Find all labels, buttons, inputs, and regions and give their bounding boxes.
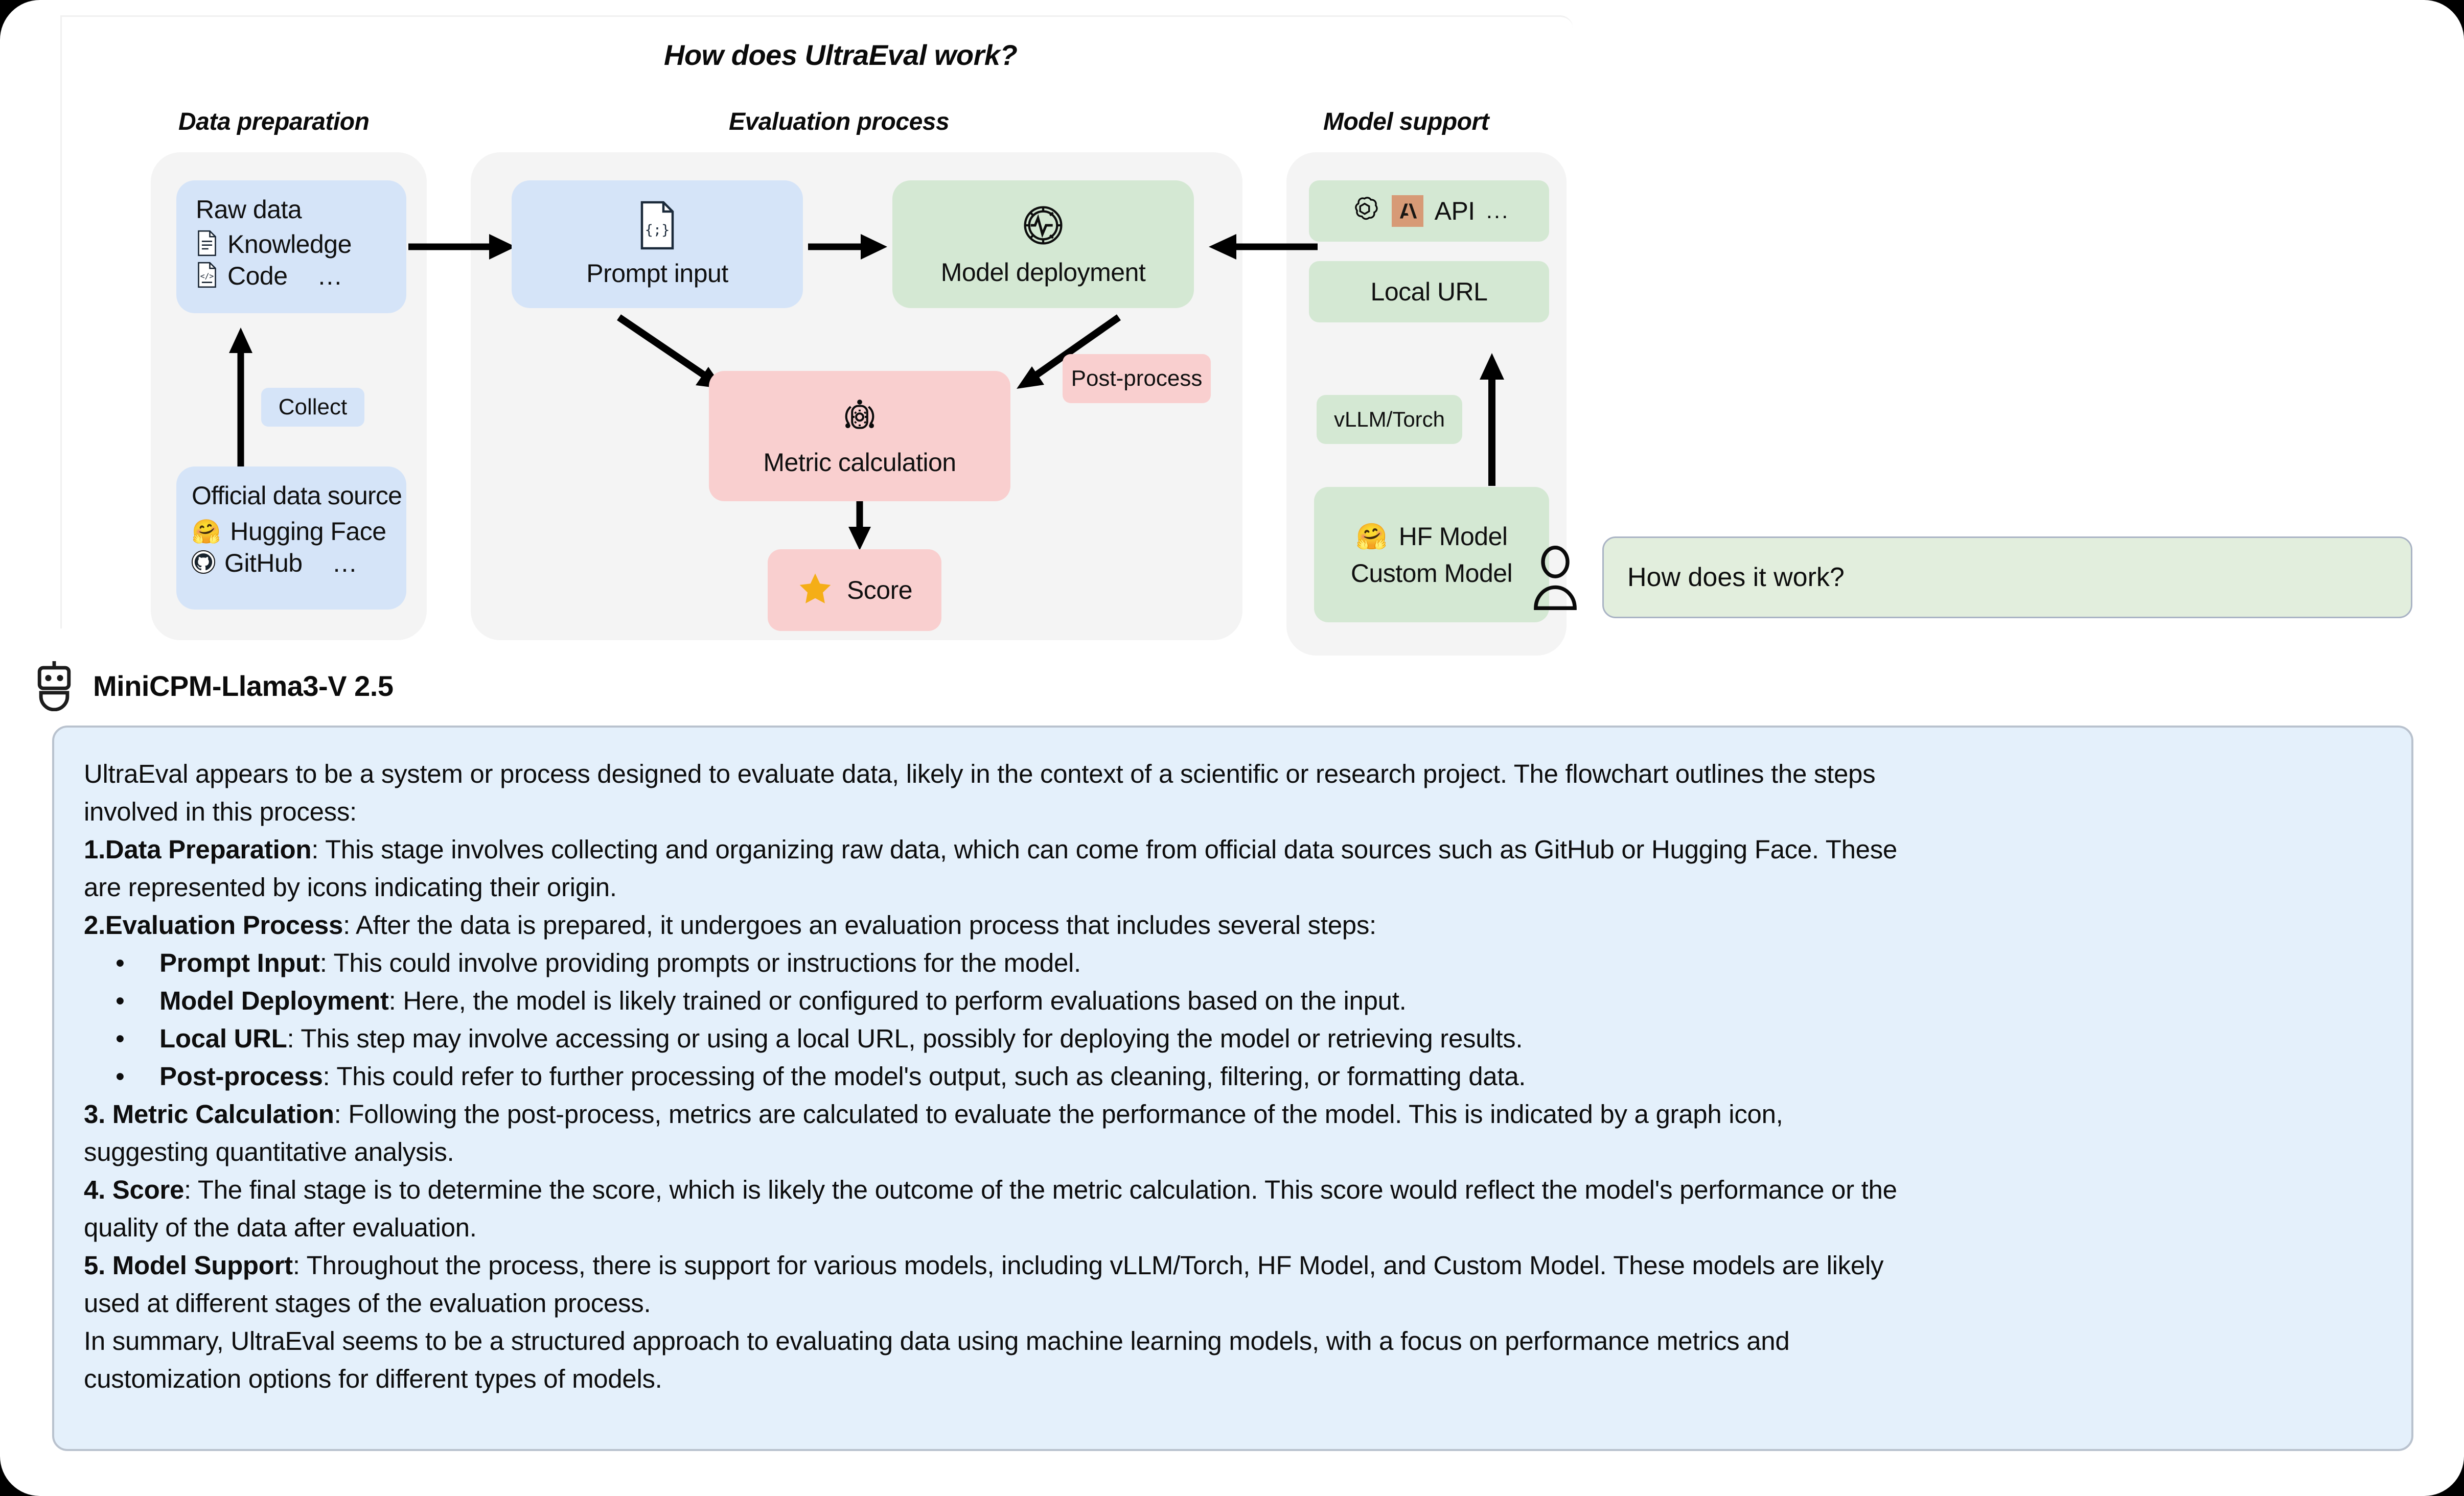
- response-line-bold: Prompt Input: [159, 948, 320, 977]
- official-data-source-heading: Official data source: [192, 481, 402, 510]
- list-bullet: •: [116, 982, 159, 1020]
- code-file-icon: </>: [196, 262, 218, 291]
- response-line-text: : This could involve providing prompts o…: [320, 948, 1081, 977]
- list-bullet: •: [116, 1058, 159, 1095]
- response-line: 5. Model Support: Throughout the process…: [84, 1247, 2383, 1284]
- column-title-evaluation-process: Evaluation process: [729, 108, 949, 136]
- arrow-rawdata-to-prompt: [408, 226, 518, 267]
- chip-vllm-torch: vLLM/Torch: [1317, 395, 1462, 444]
- assistant-header: MiniCPM-Llama3-V 2.5: [31, 658, 393, 714]
- node-api: API ...: [1309, 180, 1549, 242]
- chip-collect: Collect: [261, 388, 364, 427]
- response-line-text: : This could refer to further processing…: [323, 1062, 1526, 1091]
- assistant-name: MiniCPM-Llama3-V 2.5: [93, 669, 393, 703]
- response-line-text: : Following the post-process, metrics ar…: [334, 1100, 1783, 1129]
- openai-icon: [1349, 194, 1380, 228]
- column-title-data-preparation: Data preparation: [178, 108, 369, 136]
- svg-text:</>: </>: [200, 272, 214, 280]
- response-line: In summary, UltraEval seems to be a stru…: [84, 1322, 2383, 1360]
- gear-pulse-icon: [1020, 202, 1067, 251]
- response-line-text: : Here, the model is likely trained or c…: [389, 986, 1407, 1015]
- raw-data-heading: Raw data: [196, 195, 302, 224]
- svg-text:{;}: {;}: [645, 222, 670, 238]
- response-line-text: are represented by icons indicating thei…: [84, 873, 617, 902]
- response-line-text: : After the data is prepared, it undergo…: [343, 910, 1376, 940]
- json-file-icon: {;}: [637, 201, 677, 252]
- node-score: Score: [768, 549, 941, 631]
- response-line-bold: Model Deployment: [159, 986, 389, 1015]
- response-line-bold: 1.Data Preparation: [84, 835, 311, 864]
- response-line: UltraEval appears to be a system or proc…: [84, 755, 2383, 793]
- official-more: ...: [333, 548, 358, 578]
- anthropic-icon: [1392, 195, 1423, 227]
- response-line: •Local URL: This step may involve access…: [84, 1020, 2383, 1058]
- api-more: ...: [1486, 198, 1510, 224]
- response-line-text: : This step may involve accessing or usi…: [287, 1024, 1523, 1053]
- official-item-label: GitHub: [224, 548, 303, 578]
- assistant-response-text: UltraEval appears to be a system or proc…: [84, 755, 2383, 1398]
- response-line: •Post-process: This could refer to furth…: [84, 1058, 2383, 1095]
- hugging-face-icon: 🤗: [1356, 524, 1388, 549]
- response-line-text: quality of the data after evaluation.: [84, 1213, 477, 1242]
- response-line-bold: Local URL: [159, 1024, 287, 1053]
- official-item-hugging-face: 🤗 Hugging Face: [192, 516, 386, 547]
- column-title-model-support: Model support: [1323, 108, 1489, 136]
- response-line-text: used at different stages of the evaluati…: [84, 1289, 651, 1318]
- screenshot-frame: How does UltraEval work? Data preparatio…: [0, 0, 2464, 1496]
- node-local-url: Local URL: [1309, 261, 1549, 322]
- list-bullet: •: [116, 944, 159, 982]
- response-line: •Model Deployment: Here, the model is li…: [84, 982, 2383, 1020]
- response-line: involved in this process:: [84, 793, 2383, 831]
- assistant-response-panel: UltraEval appears to be a system or proc…: [52, 726, 2413, 1451]
- list-bullet: •: [116, 1020, 159, 1058]
- raw-data-item-label: Code: [227, 261, 288, 291]
- response-line: are represented by icons indicating thei…: [84, 869, 2383, 906]
- response-line: suggesting quantitative analysis.: [84, 1133, 2383, 1171]
- user-message-text: How does it work?: [1627, 562, 1845, 593]
- score-label: Score: [847, 575, 912, 605]
- raw-data-item-knowledge: Knowledge: [196, 228, 352, 260]
- diagram-title: How does UltraEval work?: [664, 38, 1017, 72]
- hf-model-label: HF Model: [1399, 522, 1508, 551]
- response-line: customization options for different type…: [84, 1360, 2383, 1398]
- response-line-bold: 2.Evaluation Process: [84, 910, 343, 940]
- response-line-text: : Throughout the process, there is suppo…: [293, 1251, 1883, 1280]
- custom-model-label: Custom Model: [1351, 558, 1512, 588]
- prompt-input-label: Prompt input: [586, 259, 728, 288]
- user-icon: [1526, 545, 1585, 614]
- diagram-card: How does UltraEval work? Data preparatio…: [60, 15, 1573, 628]
- collect-label: Collect: [279, 394, 348, 420]
- response-line-text: In summary, UltraEval seems to be a stru…: [84, 1326, 1789, 1355]
- response-line: 3. Metric Calculation: Following the pos…: [84, 1095, 2383, 1133]
- node-raw-data: Raw data Knowledge </> Code ...: [176, 180, 406, 313]
- metric-calculation-label: Metric calculation: [763, 448, 956, 477]
- official-item-label: Hugging Face: [230, 517, 386, 546]
- model-deployment-label: Model deployment: [941, 258, 1146, 287]
- arrow-hf-to-local: [1471, 349, 1512, 487]
- response-line-bold: 5. Model Support: [84, 1251, 293, 1280]
- chip-post-process: Post-process: [1063, 354, 1211, 403]
- raw-data-more: ...: [318, 261, 343, 291]
- arrow-modelsupport-to-deploy: [1192, 226, 1318, 267]
- raw-data-item-code: </> Code ...: [196, 260, 342, 292]
- hugging-face-icon: 🤗: [192, 520, 221, 543]
- node-model-deployment: Model deployment: [892, 180, 1194, 308]
- document-icon: [196, 230, 218, 259]
- response-line: 1.Data Preparation: This stage involves …: [84, 831, 2383, 869]
- response-line-bold: 3. Metric Calculation: [84, 1100, 334, 1129]
- response-line-bold: Post-process: [159, 1062, 323, 1091]
- local-url-label: Local URL: [1371, 277, 1488, 307]
- response-line: quality of the data after evaluation.: [84, 1209, 2383, 1247]
- node-prompt-input: {;} Prompt input: [512, 180, 803, 308]
- arrow-official-to-raw: [220, 323, 261, 472]
- response-line: •Prompt Input: This could involve provid…: [84, 944, 2383, 982]
- node-official-data-source: Official data source 🤗 Hugging Face GitH…: [176, 466, 406, 610]
- star-icon: [797, 571, 834, 610]
- arrow-prompt-to-deploy: [808, 226, 890, 267]
- response-line-text: customization options for different type…: [84, 1364, 662, 1393]
- post-process-label: Post-process: [1071, 366, 1203, 391]
- response-line-text: : This stage involves collecting and org…: [311, 835, 1897, 864]
- response-line-text: involved in this process:: [84, 797, 357, 826]
- node-hf-custom-model: 🤗 HF Model Custom Model: [1314, 487, 1549, 622]
- robot-icon: [31, 658, 78, 714]
- response-line-text: suggesting quantitative analysis.: [84, 1137, 454, 1166]
- vllm-torch-label: vLLM/Torch: [1334, 407, 1445, 432]
- official-item-github: GitHub ...: [192, 547, 357, 579]
- response-line: 4. Score: The final stage is to determin…: [84, 1171, 2383, 1209]
- hf-model-row: 🤗 HF Model: [1356, 522, 1508, 551]
- response-line: 2.Evaluation Process: After the data is …: [84, 906, 2383, 944]
- user-message-bubble: How does it work?: [1602, 536, 2412, 618]
- raw-data-item-label: Knowledge: [227, 229, 352, 259]
- node-metric-calculation: Metric calculation: [709, 371, 1010, 501]
- response-line-text: UltraEval appears to be a system or proc…: [84, 759, 1875, 788]
- github-icon: [192, 550, 215, 576]
- metric-orbit-icon: [838, 395, 882, 441]
- response-line: used at different stages of the evaluati…: [84, 1284, 2383, 1322]
- response-line-bold: 4. Score: [84, 1175, 184, 1204]
- response-line-text: : The final stage is to determine the sc…: [184, 1175, 1897, 1204]
- api-label: API: [1435, 196, 1475, 226]
- arrow-metric-to-score: [839, 501, 880, 552]
